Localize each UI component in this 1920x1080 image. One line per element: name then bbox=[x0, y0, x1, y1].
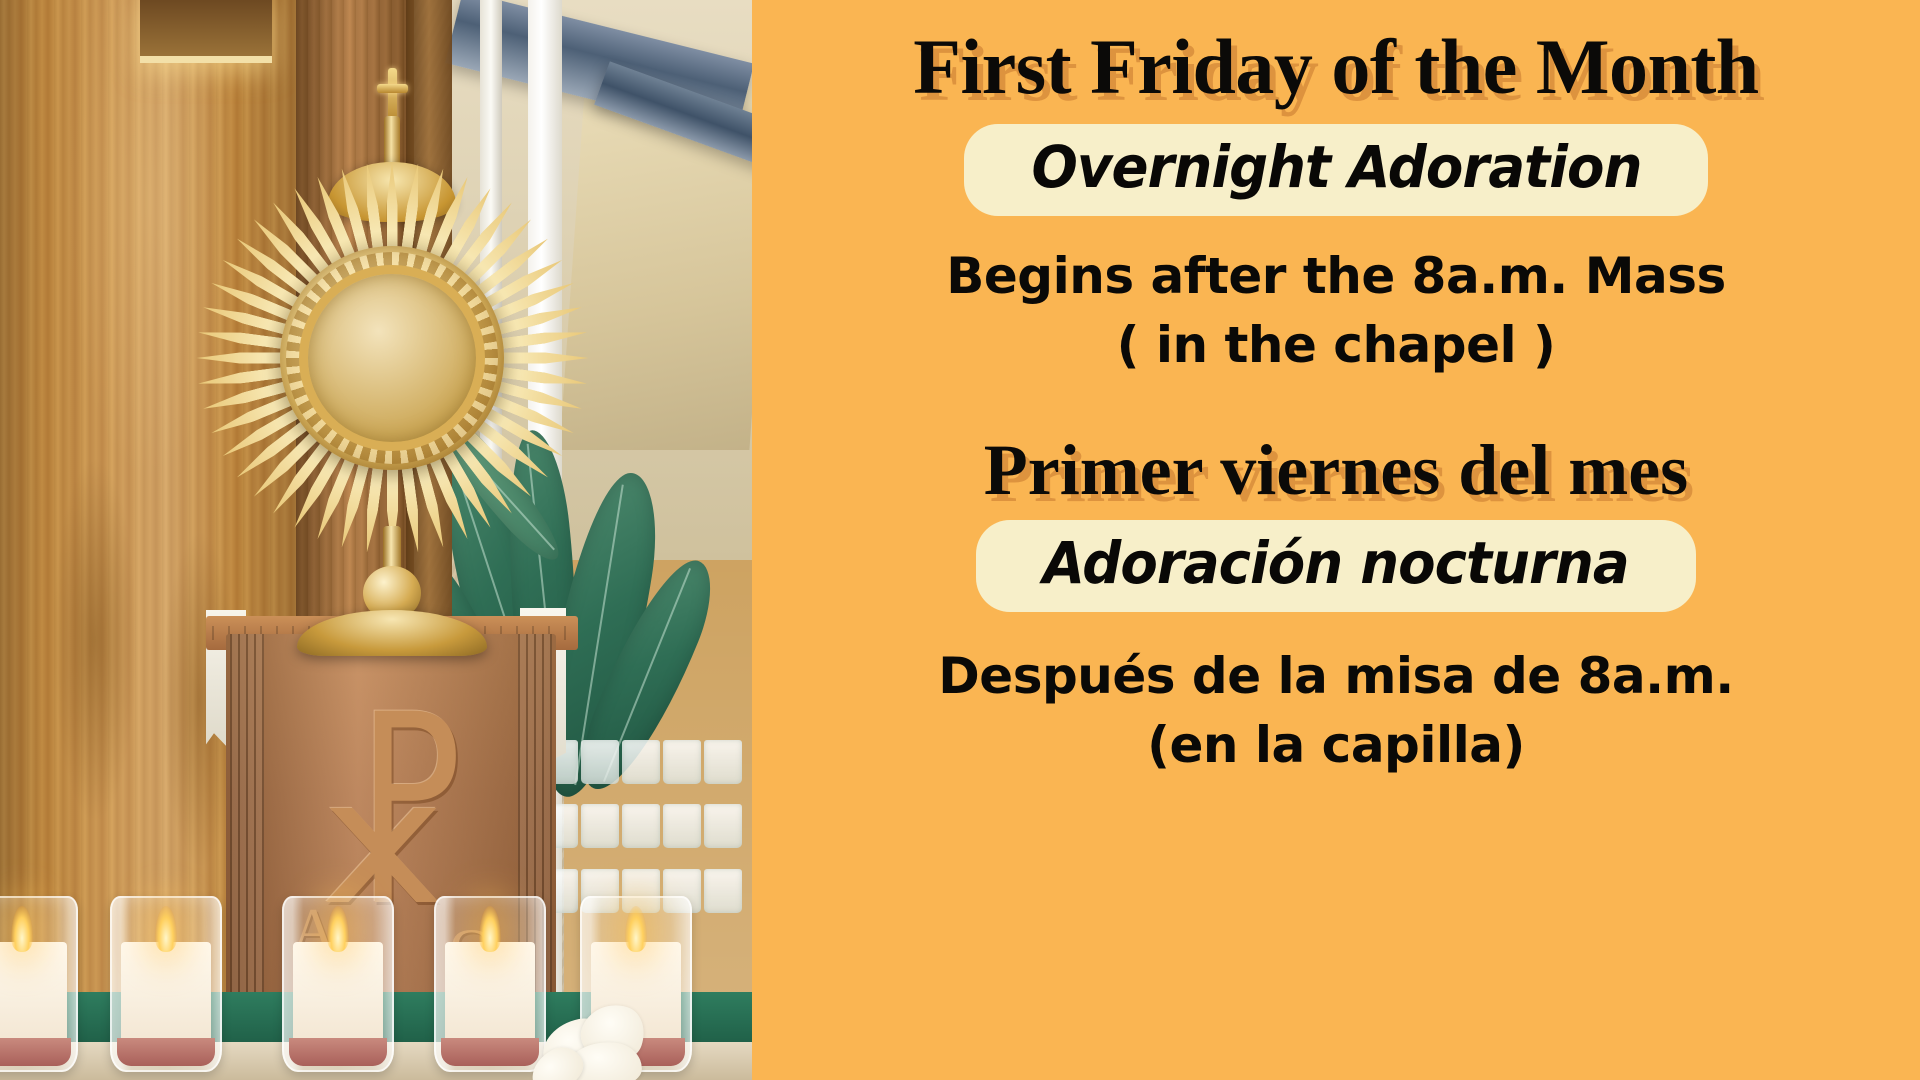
adoration-photo: ☧ A Ω bbox=[0, 0, 752, 1080]
spanish-badge: Adoración nocturna bbox=[976, 520, 1695, 612]
votive-candle bbox=[0, 896, 78, 1072]
votive-candle bbox=[282, 896, 394, 1072]
monstrance-base bbox=[297, 610, 487, 656]
spanish-badge-label: Adoración nocturna bbox=[1043, 534, 1629, 592]
spanish-headline: Primer viernes del mes bbox=[984, 434, 1688, 506]
english-detail-line-2: ( in the chapel ) bbox=[946, 315, 1725, 376]
orchid-flower bbox=[524, 994, 674, 1080]
chi-rho-icon: ☧ bbox=[226, 754, 556, 912]
spanish-detail-line-2: (en la capilla) bbox=[938, 715, 1733, 776]
spanish-block: Primer viernes del mes Adoración nocturn… bbox=[938, 434, 1733, 776]
monstrance-rays bbox=[192, 158, 592, 558]
english-badge: Overnight Adoration bbox=[964, 124, 1709, 216]
votive-candle bbox=[110, 896, 222, 1072]
ceiling-light-fixture bbox=[140, 0, 272, 63]
announcement-panel: First Friday of the Month Overnight Ador… bbox=[752, 0, 1920, 1080]
monstrance-luna-ring bbox=[299, 265, 485, 451]
poster-root: ☧ A Ω bbox=[0, 0, 1920, 1080]
english-headline: First Friday of the Month bbox=[913, 28, 1758, 106]
english-details: Begins after the 8a.m. Mass ( in the cha… bbox=[946, 246, 1725, 376]
monstrance-cross-icon bbox=[375, 68, 409, 122]
english-badge-label: Overnight Adoration bbox=[1031, 138, 1641, 196]
spanish-details: Después de la misa de 8a.m. (en la capil… bbox=[938, 646, 1733, 776]
spanish-detail-line-1: Después de la misa de 8a.m. bbox=[938, 646, 1733, 707]
monstrance-icon bbox=[186, 58, 598, 648]
english-detail-line-1: Begins after the 8a.m. Mass bbox=[946, 246, 1725, 307]
english-block: First Friday of the Month Overnight Ador… bbox=[913, 28, 1758, 376]
